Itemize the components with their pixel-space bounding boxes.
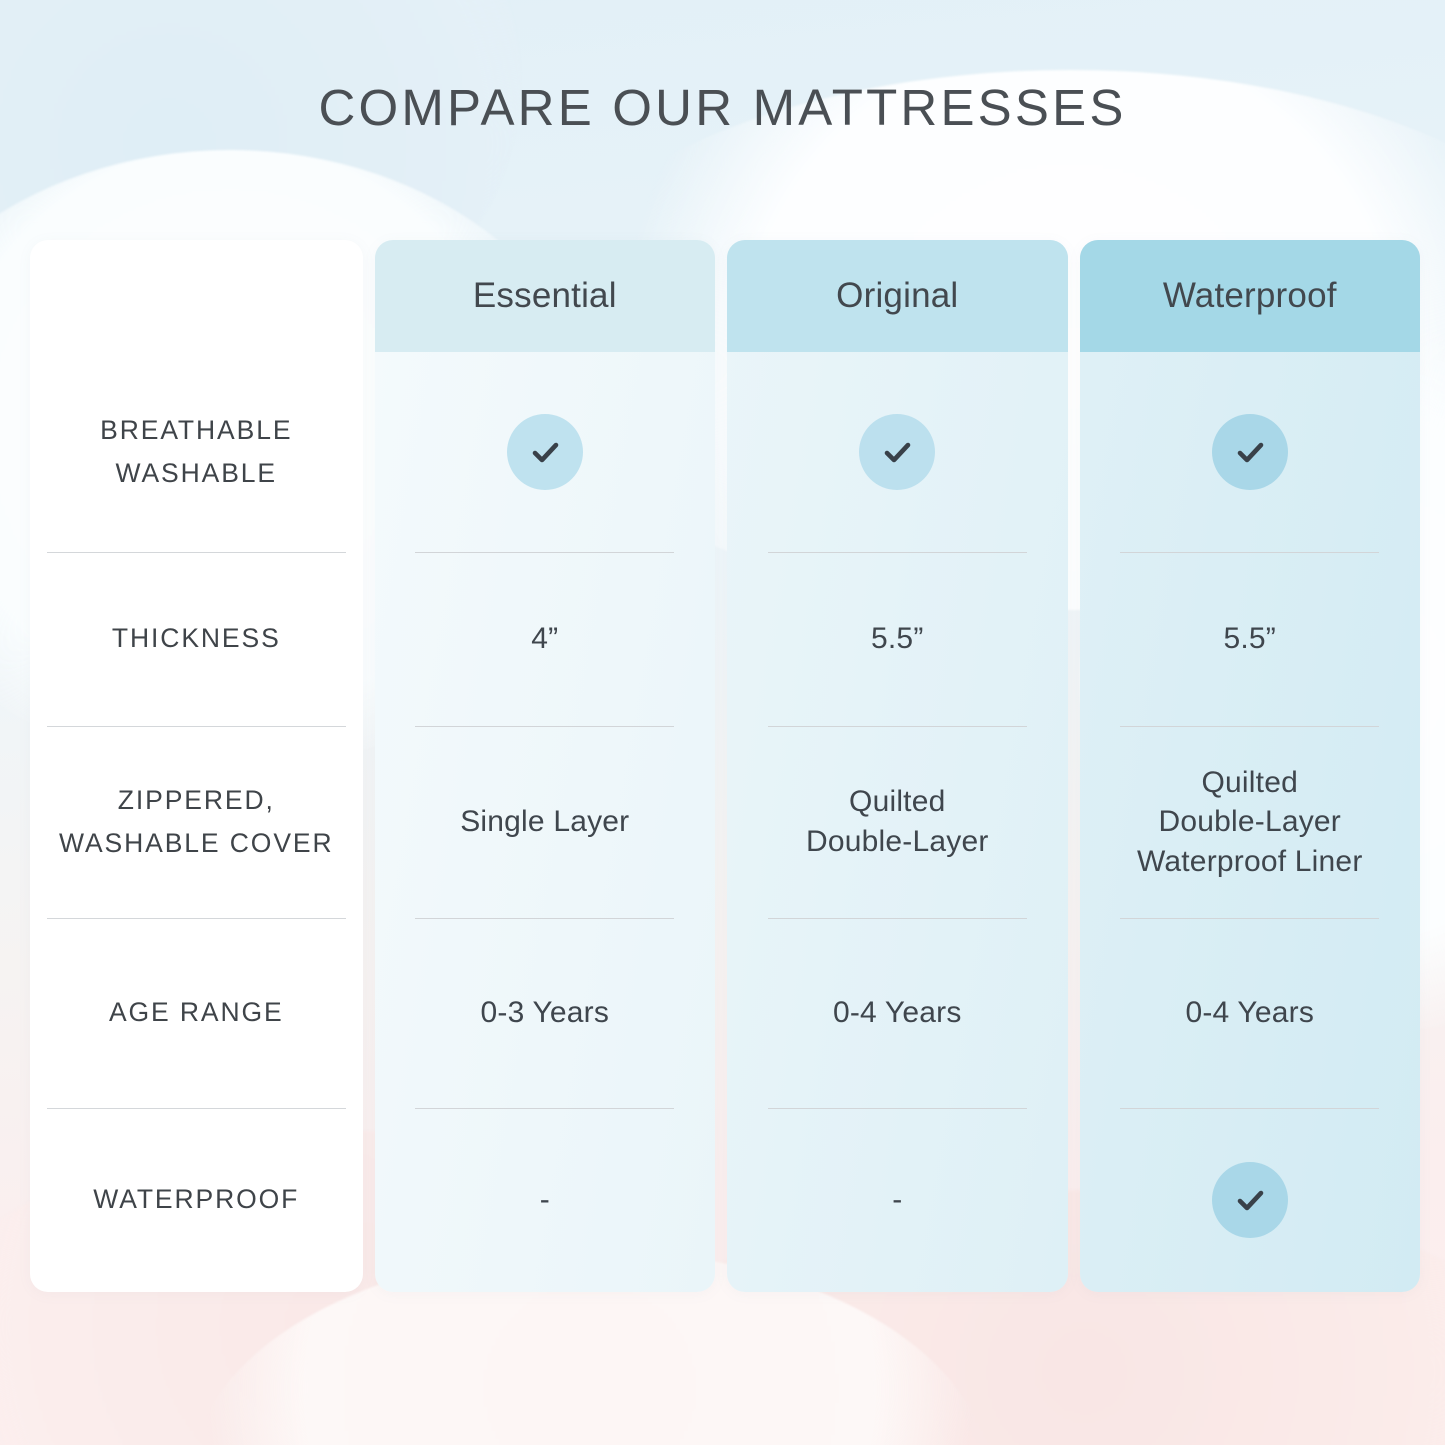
check-icon bbox=[507, 414, 583, 490]
product-name: Essential bbox=[473, 276, 617, 316]
row-label-breathable: BREATHABLE WASHABLE bbox=[30, 352, 363, 552]
row-label-thickness: THICKNESS bbox=[30, 552, 363, 726]
product-header-original: Original bbox=[727, 240, 1067, 352]
feature-label: ZIPPERED, WASHABLE COVER bbox=[59, 779, 333, 866]
product-column-essential[interactable]: Essential 4” Single Layer 0-3 Years bbox=[375, 240, 715, 1292]
label-column-header bbox=[30, 240, 363, 352]
cell-essential-thickness: 4” bbox=[375, 552, 715, 726]
cell-value: 0-3 Years bbox=[481, 993, 610, 1033]
product-column-original[interactable]: Original 5.5” Quilted Double-Layer 0-4 Y… bbox=[727, 240, 1067, 1292]
row-label-cover: ZIPPERED, WASHABLE COVER bbox=[30, 726, 363, 918]
cell-waterproof-cover: Quilted Double-Layer Waterproof Liner bbox=[1080, 726, 1420, 918]
page-title: COMPARE OUR MATTRESSES bbox=[0, 78, 1445, 137]
cell-original-cover: Quilted Double-Layer bbox=[727, 726, 1067, 918]
label-column-body: BREATHABLE WASHABLE THICKNESS ZIPPERED, … bbox=[30, 352, 363, 1292]
cell-value: 0-4 Years bbox=[1185, 993, 1314, 1033]
feature-label: WATERPROOF bbox=[93, 1178, 299, 1221]
product-body-essential: 4” Single Layer 0-3 Years - bbox=[375, 352, 715, 1292]
cell-essential-cover: Single Layer bbox=[375, 726, 715, 918]
cell-value: Quilted Double-Layer Waterproof Liner bbox=[1137, 763, 1363, 882]
cell-waterproof-age-range: 0-4 Years bbox=[1080, 918, 1420, 1108]
cell-value: Single Layer bbox=[460, 802, 629, 842]
cell-waterproof-waterproof bbox=[1080, 1108, 1420, 1292]
row-label-waterproof: WATERPROOF bbox=[30, 1108, 363, 1292]
cell-essential-waterproof: - bbox=[375, 1108, 715, 1292]
cell-original-waterproof: - bbox=[727, 1108, 1067, 1292]
cell-original-thickness: 5.5” bbox=[727, 552, 1067, 726]
product-name: Waterproof bbox=[1163, 276, 1337, 316]
cell-value: - bbox=[892, 1183, 902, 1217]
cell-original-age-range: 0-4 Years bbox=[727, 918, 1067, 1108]
product-column-waterproof[interactable]: Waterproof 5.5” Quilted Double-Layer Wat… bbox=[1080, 240, 1420, 1292]
product-name: Original bbox=[836, 276, 958, 316]
product-header-waterproof: Waterproof bbox=[1080, 240, 1420, 352]
cell-value: 0-4 Years bbox=[833, 993, 962, 1033]
check-icon bbox=[1212, 414, 1288, 490]
cell-value: 5.5” bbox=[1224, 619, 1277, 659]
row-label-age-range: AGE RANGE bbox=[30, 918, 363, 1108]
cell-value: - bbox=[540, 1183, 550, 1217]
product-header-essential: Essential bbox=[375, 240, 715, 352]
feature-label-column: BREATHABLE WASHABLE THICKNESS ZIPPERED, … bbox=[30, 240, 363, 1292]
cell-value: 5.5” bbox=[871, 619, 924, 659]
cell-value: 4” bbox=[531, 619, 558, 659]
cell-value: Quilted Double-Layer bbox=[806, 782, 989, 861]
check-icon bbox=[1212, 1162, 1288, 1238]
check-icon bbox=[859, 414, 935, 490]
feature-label: THICKNESS bbox=[112, 617, 281, 660]
product-body-waterproof: 5.5” Quilted Double-Layer Waterproof Lin… bbox=[1080, 352, 1420, 1292]
cell-waterproof-breathable bbox=[1080, 352, 1420, 552]
feature-label: AGE RANGE bbox=[109, 991, 284, 1034]
feature-label: BREATHABLE WASHABLE bbox=[100, 409, 292, 496]
product-body-original: 5.5” Quilted Double-Layer 0-4 Years - bbox=[727, 352, 1067, 1292]
comparison-table: BREATHABLE WASHABLE THICKNESS ZIPPERED, … bbox=[30, 240, 1420, 1292]
cell-original-breathable bbox=[727, 352, 1067, 552]
cell-essential-breathable bbox=[375, 352, 715, 552]
cell-waterproof-thickness: 5.5” bbox=[1080, 552, 1420, 726]
cell-essential-age-range: 0-3 Years bbox=[375, 918, 715, 1108]
